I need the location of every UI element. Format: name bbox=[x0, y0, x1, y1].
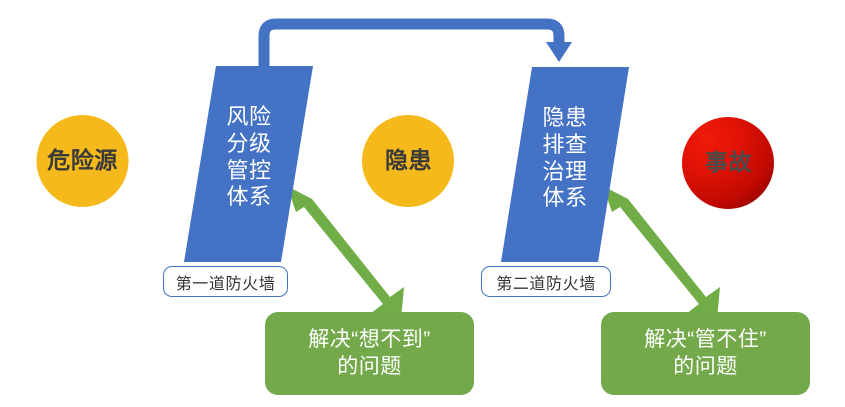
solution-box-two: 解决“管不住” 的问题 bbox=[601, 312, 810, 395]
hazard-source-label: 危险源 bbox=[32, 148, 133, 174]
firewall-badge-two: 第二道防火墙 bbox=[481, 266, 611, 297]
solution-two-label: 解决“管不住” 的问题 bbox=[644, 327, 767, 380]
green-arrow-two bbox=[603, 186, 720, 320]
green-arrow-one bbox=[287, 186, 404, 320]
firewall-two-label: 第二道防火墙 bbox=[496, 270, 596, 294]
firewall-one-label: 第一道防火墙 bbox=[176, 270, 276, 294]
accident-label: 事故 bbox=[678, 150, 779, 176]
firewall-badge-one: 第一道防火墙 bbox=[163, 266, 288, 297]
system-two-label: 隐患 排查 治理 体系 bbox=[529, 105, 601, 212]
solution-one-label: 解决“想不到” 的问题 bbox=[308, 327, 431, 380]
system-one-label: 风险 分级 管控 体系 bbox=[213, 104, 285, 211]
solution-box-one: 解决“想不到” 的问题 bbox=[265, 312, 474, 395]
diagram-canvas: 危险源 隐患 事故 风险 分级 管控 体系 隐患 排查 治理 体系 第一道防火墙… bbox=[0, 0, 845, 407]
hidden-danger-label: 隐患 bbox=[358, 148, 459, 174]
